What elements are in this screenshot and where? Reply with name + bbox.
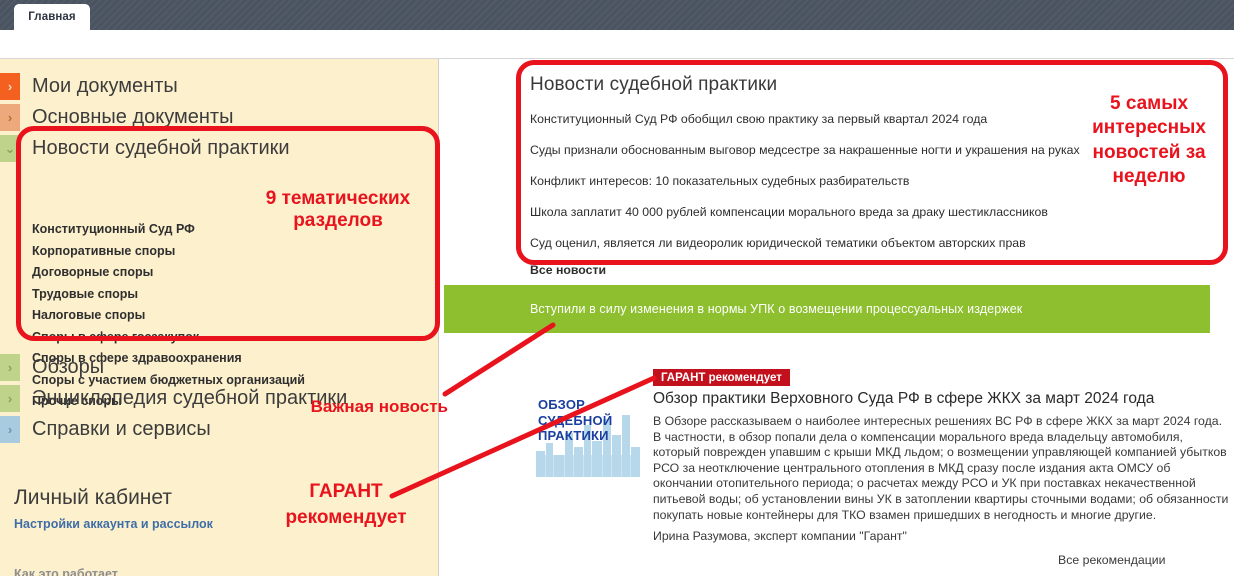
thumbnail-caption: ОБЗОР СУДЕБНОЙ ПРАКТИКИ — [538, 397, 638, 444]
page-body: › Мои документы › Основные документы ⌄ Н… — [0, 58, 1234, 576]
important-news-banner-label: Вступили в силу изменения в нормы УПК о … — [530, 302, 1022, 316]
recommendation-body: В Обзоре рассказываем о наиболее интерес… — [653, 414, 1233, 523]
toolbar-area — [0, 30, 1234, 58]
tab-home-label: Главная — [28, 11, 75, 23]
sidebar-item-main-documents[interactable]: › Основные документы — [0, 104, 439, 135]
sidebar-topic-item[interactable]: Налоговые споры — [32, 305, 362, 327]
sidebar-item-encyclopedia[interactable]: › Энциклопедия судебной практики — [0, 385, 439, 416]
chevron-right-icon: › — [0, 73, 20, 100]
news-panel-title: Новости судебной практики — [530, 74, 1190, 96]
recommendation-author: Ирина Разумова, эксперт компании "Гарант… — [653, 529, 907, 543]
sidebar-item-label: Обзоры — [32, 354, 104, 381]
sidebar-topic-item[interactable]: Конституционный Суд РФ — [32, 219, 362, 241]
sidebar-item-my-documents[interactable]: › Мои документы — [0, 73, 439, 104]
tab-home[interactable]: Главная — [14, 4, 90, 30]
sidebar-topic-item[interactable]: Трудовые споры — [32, 284, 362, 306]
recommendation-title[interactable]: Обзор практики Верховного Суда РФ в сфер… — [653, 390, 1228, 408]
browser-tab-strip: Главная — [0, 0, 1234, 30]
sidebar-item-label: Энциклопедия судебной практики — [32, 385, 347, 412]
chevron-down-icon: ⌄ — [0, 135, 20, 162]
all-news-link[interactable]: Все новости — [530, 263, 1190, 277]
sidebar-item-label: Справки и сервисы — [32, 416, 211, 443]
chevron-right-icon: › — [0, 385, 20, 412]
news-item[interactable]: Конституционный Суд РФ обобщил свою прак… — [530, 112, 1190, 127]
sidebar-item-label: Мои документы — [32, 73, 178, 100]
thumbnail-caption-line2: СУДЕБНОЙ — [538, 413, 638, 429]
sidebar-nav-bottom: › Обзоры › Энциклопедия судебной практик… — [0, 354, 439, 447]
sidebar-topic-item[interactable]: Договорные споры — [32, 262, 362, 284]
important-news-banner[interactable]: Вступили в силу изменения в нормы УПК о … — [444, 285, 1210, 333]
app-root: Главная › Мои документы › Основные докум… — [0, 0, 1234, 576]
sidebar-topic-item[interactable]: Споры в сфере госзакупок — [32, 327, 362, 349]
chevron-right-icon: › — [0, 416, 20, 443]
status-badge-label: ГАРАНТ рекомендует — [661, 372, 782, 384]
news-panel: Новости судебной практики Конституционны… — [530, 74, 1190, 277]
how-it-works-link[interactable]: Как это работает — [14, 567, 118, 576]
thumbnail-caption-line3: ПРАКТИКИ — [538, 428, 638, 444]
all-recommendations-link[interactable]: Все рекомендации — [1058, 553, 1166, 567]
chevron-right-icon: › — [0, 354, 20, 381]
account-settings-link[interactable]: Настройки аккаунта и рассылок — [14, 517, 213, 531]
news-item[interactable]: Суды признали обоснованным выговор медсе… — [530, 143, 1190, 158]
sidebar-item-references-services[interactable]: › Справки и сервисы — [0, 416, 439, 447]
sidebar-item-reviews[interactable]: › Обзоры — [0, 354, 439, 385]
status-badge: ГАРАНТ рекомендует — [653, 369, 790, 386]
sidebar-topic-item[interactable]: Корпоративные споры — [32, 241, 362, 263]
review-thumbnail[interactable]: ОБЗОР СУДЕБНОЙ ПРАКТИКИ — [532, 381, 642, 477]
news-item[interactable]: Школа заплатит 40 000 рублей компенсации… — [530, 205, 1190, 220]
personal-account-title: Личный кабинет — [14, 486, 172, 510]
news-item[interactable]: Конфликт интересов: 10 показательных суд… — [530, 174, 1190, 189]
sidebar-item-court-practice-news[interactable]: ⌄ Новости судебной практики — [0, 135, 439, 166]
chevron-right-icon: › — [0, 104, 20, 131]
sidebar-nav-top: › Мои документы › Основные документы ⌄ Н… — [0, 73, 439, 166]
thumbnail-caption-line1: ОБЗОР — [538, 397, 638, 413]
sidebar-item-label: Новости судебной практики — [32, 135, 290, 162]
main-content: Новости судебной практики Конституционны… — [440, 59, 1234, 576]
sidebar-item-label: Основные документы — [32, 104, 233, 131]
news-item[interactable]: Суд оценил, является ли видеоролик юриди… — [530, 236, 1190, 251]
sidebar: › Мои документы › Основные документы ⌄ Н… — [0, 59, 439, 576]
